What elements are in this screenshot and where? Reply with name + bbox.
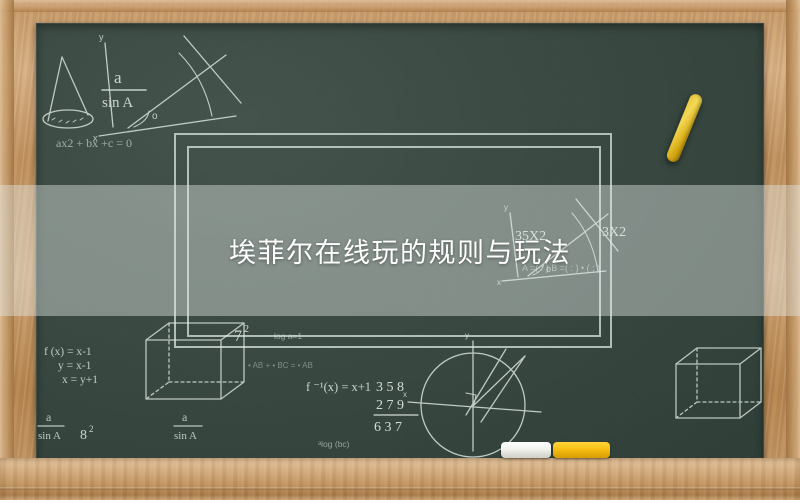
svg-text:a: a bbox=[182, 410, 188, 424]
fraction-a-over-sinA-undercube: a sin A bbox=[174, 410, 202, 442]
svg-text:sin A: sin A bbox=[102, 95, 133, 111]
svg-text:2: 2 bbox=[89, 424, 94, 434]
frame-top-bevel bbox=[0, 0, 800, 12]
function-lines-group: f (x) = x-1 y = x-1 x = y+1 bbox=[44, 346, 98, 386]
svg-text:sin A: sin A bbox=[38, 430, 61, 442]
fraction-a-over-sinA-bottomleft: a sin A bbox=[38, 410, 64, 442]
chalkboard-banner: a sin A ax2 + bx +c = 0 y x o bbox=[0, 0, 800, 500]
svg-text:y = x-1: y = x-1 bbox=[58, 360, 92, 372]
ledge-lip bbox=[0, 487, 800, 490]
svg-text:y: y bbox=[99, 32, 104, 42]
svg-text:x = y+1: x = y+1 bbox=[62, 374, 98, 386]
log-note-bottom: ᵃlog (bc) bbox=[318, 439, 350, 449]
svg-text:a: a bbox=[114, 68, 122, 87]
svg-text:8: 8 bbox=[80, 428, 87, 443]
svg-text:6 3 7: 6 3 7 bbox=[374, 420, 402, 435]
svg-text:3 5 8: 3 5 8 bbox=[376, 380, 404, 395]
svg-text:o: o bbox=[152, 111, 158, 122]
inverse-function-text: f ⁻¹(x) = x+1 bbox=[306, 380, 371, 394]
power-eight-squared: 8 2 bbox=[80, 424, 94, 443]
long-division-numbers: 3 5 8 2 7 9 6 3 7 bbox=[374, 380, 418, 435]
svg-text:a: a bbox=[46, 410, 52, 424]
chalk-ledge bbox=[0, 458, 800, 500]
svg-text:sin A: sin A bbox=[174, 430, 197, 442]
faint-vector-note: • AB + • BC = • AB bbox=[248, 361, 313, 370]
page-title: 埃菲尔在线玩的规则与玩法 bbox=[0, 185, 800, 316]
svg-text:2 7 9: 2 7 9 bbox=[376, 398, 404, 413]
chalk-yellow-icon bbox=[553, 442, 610, 458]
svg-text:x: x bbox=[403, 390, 407, 399]
svg-text:x: x bbox=[93, 133, 98, 143]
cone-diagram bbox=[43, 57, 93, 128]
angle-diagram-top-left: y x o bbox=[93, 32, 241, 143]
cube-wireframe-right bbox=[676, 348, 761, 418]
chalk-white-icon bbox=[501, 442, 551, 458]
circle-diagram: y x bbox=[403, 331, 541, 457]
svg-text:f (x) = x-1: f (x) = x-1 bbox=[44, 346, 92, 358]
